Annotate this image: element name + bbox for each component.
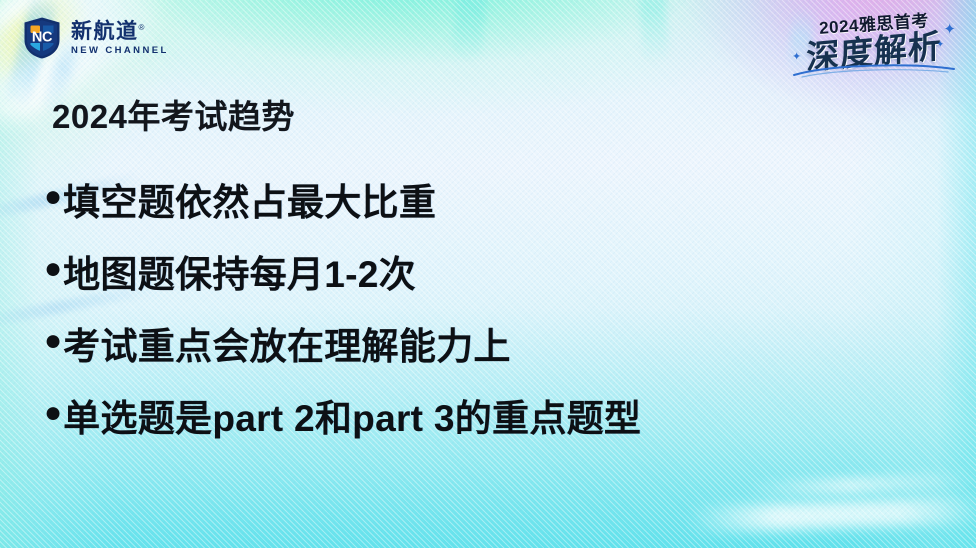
bullet-dot-icon: ● bbox=[44, 326, 62, 356]
list-item: ● 填空题依然占最大比重 bbox=[44, 163, 944, 235]
brand-name-chinese: 新航道® bbox=[71, 21, 169, 42]
list-item-label: 地图题保持每月1-2次 bbox=[63, 244, 416, 298]
brand-name-chinese-text: 新航道 bbox=[71, 20, 139, 43]
decorative-thin-streak-mid-left bbox=[0, 171, 145, 222]
list-item: ● 单选题是part 2和part 3的重点题型 bbox=[44, 379, 944, 451]
decorative-white-sweep-bottom-right bbox=[686, 497, 976, 533]
list-item-label: 单选题是part 2和part 3的重点题型 bbox=[63, 388, 641, 442]
list-item-label: 填空题依然占最大比重 bbox=[63, 172, 436, 226]
nc-shield-icon: NC bbox=[22, 16, 62, 60]
brand-logo: NC 新航道® NEW CHANNEL bbox=[22, 16, 169, 60]
bullet-list: ● 填空题依然占最大比重 ● 地图题保持每月1-2次 ● 考试重点会放在理解能力… bbox=[44, 163, 944, 451]
decorative-aqua-tube-2 bbox=[636, 0, 669, 65]
slide-canvas: NC 新航道® NEW CHANNEL 2024雅思首考 深度解析 ✦ ✦ ✦ … bbox=[0, 0, 976, 548]
background-crosshatch-texture bbox=[0, 0, 976, 548]
decorative-aqua-tube-1 bbox=[451, 0, 489, 63]
list-item-label: 考试重点会放在理解能力上 bbox=[63, 316, 511, 370]
background-pink-bloom bbox=[0, 0, 976, 548]
list-item: ● 考试重点会放在理解能力上 bbox=[44, 307, 944, 379]
decorative-thin-streak-lower-left bbox=[0, 282, 159, 330]
campaign-badge: 2024雅思首考 深度解析 ✦ ✦ ✦ bbox=[786, 8, 962, 80]
background-mint-bloom bbox=[0, 0, 976, 548]
svg-text:NC: NC bbox=[32, 30, 53, 46]
bullet-dot-icon: ● bbox=[44, 398, 62, 428]
slide-content: 2024年考试趋势 ● 填空题依然占最大比重 ● 地图题保持每月1-2次 ● 考… bbox=[0, 0, 976, 548]
background-right-aqua-edge bbox=[0, 0, 976, 548]
brand-name-english: NEW CHANNEL bbox=[71, 46, 169, 56]
background-cyan-band bbox=[0, 0, 976, 548]
background-base-gradient bbox=[0, 0, 976, 548]
page-title: 2024年考试趋势 bbox=[52, 90, 295, 138]
background-green-bloom bbox=[0, 0, 976, 548]
bullet-dot-icon: ● bbox=[44, 182, 62, 212]
list-item: ● 地图题保持每月1-2次 bbox=[44, 235, 944, 307]
brand-wordmark: 新航道® NEW CHANNEL bbox=[71, 21, 169, 56]
bullet-dot-icon: ● bbox=[44, 254, 62, 284]
background-left-aqua-edge bbox=[0, 0, 976, 548]
decorative-white-sweep-bottom-right-2 bbox=[746, 472, 976, 498]
registered-trademark-mark: ® bbox=[139, 23, 146, 32]
